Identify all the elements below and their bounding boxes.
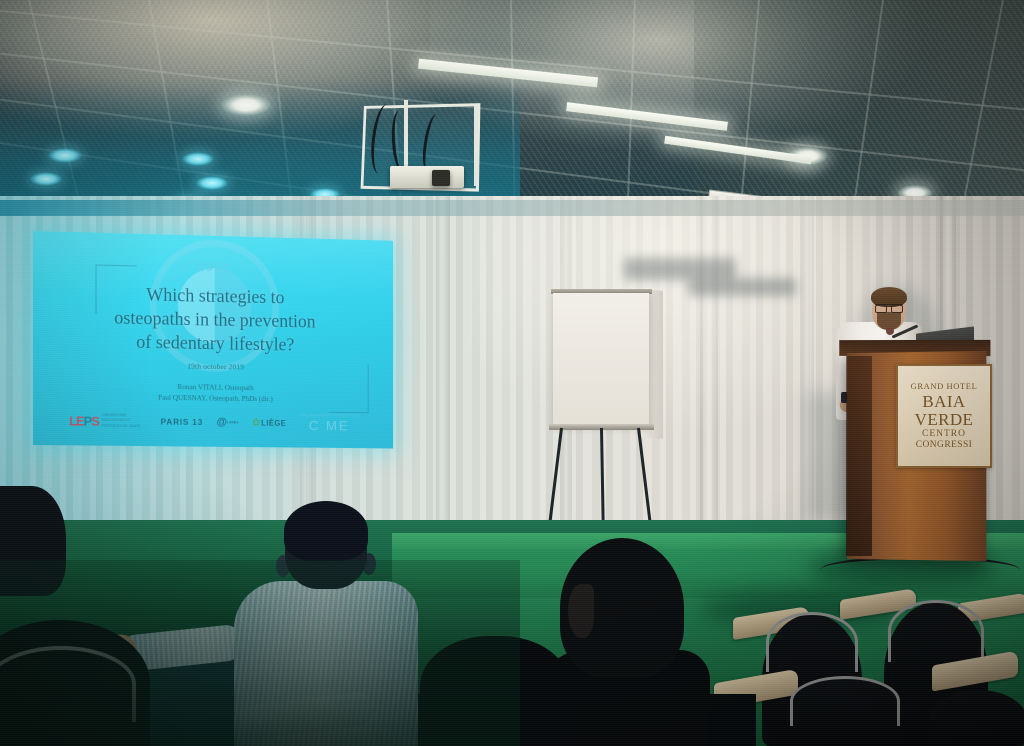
projector-shadow-on-wall [688, 278, 796, 296]
logo-leps: LEPS LABORATOIRE EDUCATIONS ET PRATIQUES… [69, 413, 147, 429]
wall-top-beam [0, 200, 1024, 216]
projection-screen: 1991 OSTEO PARIS Which strategies to ost… [33, 231, 393, 448]
plaque-line-3: VERDE [915, 411, 974, 428]
watermark-year: 1991 [197, 259, 233, 275]
chair-rail [888, 600, 984, 662]
slide-title: Which strategies to osteopaths in the pr… [33, 281, 393, 359]
woman-face-profile [568, 584, 594, 638]
ceiling-downlight [196, 176, 228, 190]
logo-leps-subtitle: LABORATOIRE EDUCATIONS ET PRATIQUES DE S… [102, 413, 147, 429]
flipchart-paper [553, 293, 649, 426]
slide-logo-row: LEPS LABORATOIRE EDUCATIONS ET PRATIQUES… [33, 407, 393, 437]
projector-mount-post [474, 106, 478, 186]
ceiling-projector [390, 166, 464, 188]
leaf-icon: ✿ [252, 417, 260, 428]
speaker-glasses [875, 304, 903, 310]
plaque-line-1: GRAND HOTEL [911, 382, 978, 391]
slide-authors: Ronan VITALL Osteopath Paul QUESNAY, Ost… [33, 379, 393, 406]
logo-come-label: C ME [309, 417, 350, 433]
logo-leps-main: LE [69, 413, 83, 428]
logo-come: COLLABORATIVE FOUNDATION C ME [300, 413, 359, 433]
chair-rail [766, 612, 858, 672]
lecture-chair [930, 690, 1024, 746]
ceiling-downlight [222, 94, 270, 116]
foreground-shadow [0, 560, 520, 746]
man-hair [284, 501, 368, 561]
logo-leps-accent: P [84, 413, 92, 428]
ceiling-downlight [48, 148, 82, 163]
ceiling-downlight [182, 152, 214, 166]
logo-labex-subtitle: LabEx [227, 420, 239, 424]
plaque-line-4: CENTRO [922, 430, 966, 440]
logo-liege-label: LIÈGE [261, 418, 286, 427]
floor-cable [820, 556, 1020, 584]
logo-labex: @ LabEx [217, 416, 239, 428]
ceiling-downlight [30, 172, 62, 186]
podium-side-panel [846, 356, 872, 556]
logo-leps-tail: S [91, 413, 99, 428]
conference-room-photo: 1991 OSTEO PARIS Which strategies to ost… [0, 0, 1024, 746]
venue-plaque: GRAND HOTEL BAIA VERDE CENTRO CONGRESSI [896, 364, 992, 468]
projector-shadow-on-wall [624, 258, 736, 280]
logo-labex-glyph: @ [217, 416, 227, 428]
projector-lens-block [432, 170, 450, 186]
logo-paris13: PARIS 13 [161, 417, 203, 427]
chair-rail [790, 676, 900, 726]
logo-liege: ✿ LIÈGE [252, 417, 286, 428]
microphone-head [886, 327, 894, 335]
plaque-line-2: BAIA [922, 393, 965, 410]
plaque-line-5: CONGRESSI [916, 441, 972, 451]
